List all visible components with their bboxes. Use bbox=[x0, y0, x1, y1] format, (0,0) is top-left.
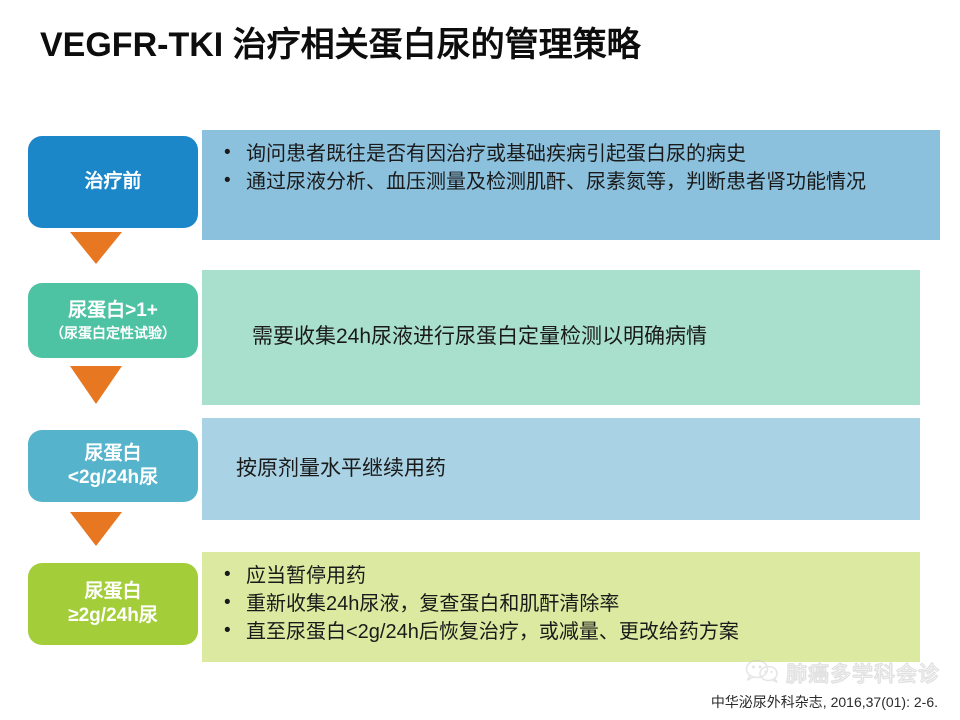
down-arrow-icon bbox=[70, 366, 122, 404]
stage-label-pre-treatment[interactable]: 治疗前 bbox=[28, 136, 198, 228]
stage-label-text: 治疗前 bbox=[84, 170, 141, 194]
flowchart: 治疗前 询问患者既往是否有因治疗或基础疾病引起蛋白尿的病史 通过尿液分析、血压测… bbox=[0, 0, 960, 720]
wechat-icon bbox=[745, 659, 779, 688]
content-text: 需要收集24h尿液进行尿蛋白定量检测以明确病情 bbox=[220, 322, 707, 352]
stage-label-proteinuria-under-2g[interactable]: 尿蛋白 <2g/24h尿 bbox=[28, 430, 198, 502]
citation-text: 中华泌尿外科杂志, 2016,37(01): 2-6. bbox=[711, 692, 938, 712]
list-item: 应当暂停用药 bbox=[220, 563, 906, 590]
watermark-text: 肺癌多学科会诊 bbox=[786, 658, 940, 688]
list-item: 询问患者既往是否有因治疗或基础疾病引起蛋白尿的病史 bbox=[220, 141, 926, 168]
stage-content-proteinuria-over-2g: 应当暂停用药 重新收集24h尿液，复查蛋白和肌酐清除率 直至尿蛋白<2g/24h… bbox=[202, 552, 920, 662]
stage-label-text: 尿蛋白>1+ bbox=[68, 299, 158, 323]
list-item: 通过尿液分析、血压测量及检测肌酐、尿素氮等，判断患者肾功能情况 bbox=[220, 169, 926, 196]
content-text: 按原剂量水平继续用药 bbox=[220, 454, 446, 484]
stage-content-proteinuria-over-1plus: 需要收集24h尿液进行尿蛋白定量检测以明确病情 bbox=[202, 270, 920, 405]
list-item: 直至尿蛋白<2g/24h后恢复治疗，或减量、更改给药方案 bbox=[220, 619, 906, 646]
stage-label-text: 尿蛋白 <2g/24h尿 bbox=[68, 442, 158, 490]
stage-label-subtext: （尿蛋白定性试验） bbox=[50, 324, 176, 342]
stage-content-proteinuria-under-2g: 按原剂量水平继续用药 bbox=[202, 418, 920, 520]
stage-content-pre-treatment: 询问患者既往是否有因治疗或基础疾病引起蛋白尿的病史 通过尿液分析、血压测量及检测… bbox=[202, 130, 940, 240]
down-arrow-icon bbox=[70, 232, 122, 264]
down-arrow-icon bbox=[70, 512, 122, 546]
list-item: 重新收集24h尿液，复查蛋白和肌酐清除率 bbox=[220, 591, 906, 618]
bullet-list: 询问患者既往是否有因治疗或基础疾病引起蛋白尿的病史 通过尿液分析、血压测量及检测… bbox=[220, 141, 926, 196]
bullet-list: 应当暂停用药 重新收集24h尿液，复查蛋白和肌酐清除率 直至尿蛋白<2g/24h… bbox=[220, 563, 906, 647]
stage-label-text: 尿蛋白 ≥2g/24h尿 bbox=[68, 580, 158, 628]
stage-label-proteinuria-over-2g[interactable]: 尿蛋白 ≥2g/24h尿 bbox=[28, 563, 198, 645]
stage-label-proteinuria-over-1plus[interactable]: 尿蛋白>1+ （尿蛋白定性试验） bbox=[28, 283, 198, 358]
watermark: 肺癌多学科会诊 bbox=[745, 658, 940, 688]
